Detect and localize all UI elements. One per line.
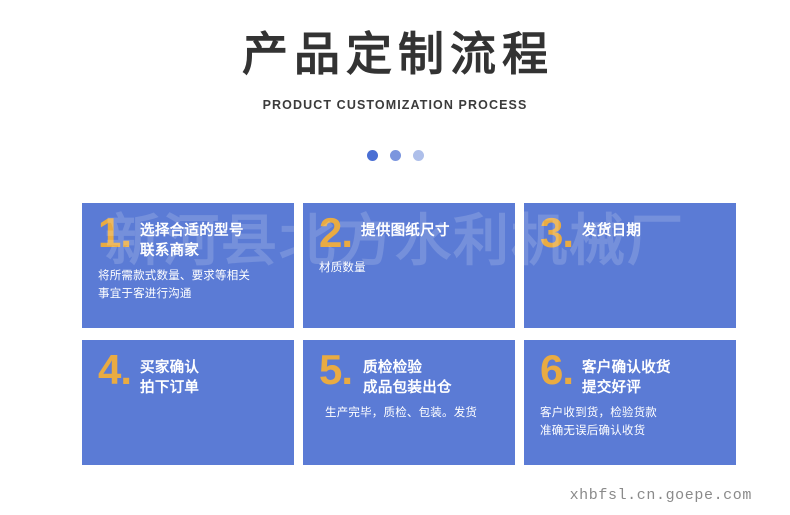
step-title: 买家确认 拍下订单 (140, 354, 199, 398)
banner-header: 产品定制流程 PRODUCT CUSTOMIZATION PROCESS (0, 28, 790, 112)
process-step-card-2: 2. 提供图纸尺寸 材质数量 (303, 203, 515, 328)
step-title: 客户确认收货 提交好评 (582, 354, 671, 398)
step-number: 3. (540, 214, 573, 253)
step-title-line-1: 质检检验 (363, 358, 452, 378)
process-step-card-1: 1. 选择合适的型号 联系商家 将所需款式数量、要求等相关 事宜于客进行沟通 (82, 203, 294, 328)
pager-dots (0, 150, 790, 161)
step-title-line-1: 买家确认 (140, 358, 199, 378)
step-title: 选择合适的型号 联系商家 (140, 217, 244, 261)
step-description: 客户收到货，检验货款 准确无误后确认收货 (524, 398, 736, 440)
step-title-line-2: 提交好评 (582, 378, 671, 398)
step-title-line-1: 客户确认收货 (582, 358, 671, 378)
step-number: 5. (319, 351, 352, 390)
step-description-line-1: 客户收到货，检验货款 (540, 403, 726, 421)
step-description-line-1: 将所需款式数量、要求等相关 (98, 266, 284, 284)
step-heading: 6. 客户确认收货 提交好评 (524, 340, 736, 398)
customization-process-banner: 产品定制流程 PRODUCT CUSTOMIZATION PROCESS 新河县… (0, 0, 790, 515)
step-number: 6. (540, 351, 573, 390)
page-title: 产品定制流程 (0, 28, 790, 81)
step-title-line-2: 联系商家 (140, 241, 244, 261)
step-description-line-2: 事宜于客进行沟通 (98, 284, 284, 302)
step-title-line-1: 发货日期 (582, 221, 641, 241)
process-step-card-6: 6. 客户确认收货 提交好评 客户收到货，检验货款 准确无误后确认收货 (524, 340, 736, 465)
step-description-line-2: 准确无误后确认收货 (540, 421, 726, 439)
step-title-line-2: 成品包装出仓 (363, 378, 452, 398)
step-description: 生产完毕，质检、包装。发货 (303, 398, 515, 421)
process-step-card-4: 4. 买家确认 拍下订单 (82, 340, 294, 465)
step-title-line-1: 选择合适的型号 (140, 221, 244, 241)
site-url-watermark: xhbfsl.cn.goepe.com (570, 487, 752, 504)
step-heading: 1. 选择合适的型号 联系商家 (82, 203, 294, 261)
page-subtitle: PRODUCT CUSTOMIZATION PROCESS (0, 98, 790, 112)
step-description: 材质数量 (303, 253, 515, 276)
step-heading: 3. 发货日期 (524, 203, 736, 253)
step-title: 质检检验 成品包装出仓 (363, 354, 452, 398)
pager-dot-2[interactable] (390, 150, 401, 161)
process-step-card-3: 3. 发货日期 (524, 203, 736, 328)
process-step-grid: 1. 选择合适的型号 联系商家 将所需款式数量、要求等相关 事宜于客进行沟通 2… (82, 203, 736, 465)
step-number: 4. (98, 351, 131, 390)
step-description-line-1: 材质数量 (319, 258, 505, 276)
step-description: 将所需款式数量、要求等相关 事宜于客进行沟通 (82, 261, 294, 303)
step-heading: 2. 提供图纸尺寸 (303, 203, 515, 253)
step-title-line-2: 拍下订单 (140, 378, 199, 398)
process-step-card-5: 5. 质检检验 成品包装出仓 生产完毕，质检、包装。发货 (303, 340, 515, 465)
step-title-line-1: 提供图纸尺寸 (361, 221, 450, 241)
step-heading: 4. 买家确认 拍下订单 (82, 340, 294, 398)
step-title: 提供图纸尺寸 (361, 217, 450, 241)
step-heading: 5. 质检检验 成品包装出仓 (303, 340, 515, 398)
step-title: 发货日期 (582, 217, 641, 241)
pager-dot-3[interactable] (413, 150, 424, 161)
step-description-line-1: 生产完毕，质检、包装。发货 (325, 403, 505, 421)
step-number: 1. (98, 214, 131, 253)
pager-dot-1[interactable] (367, 150, 378, 161)
step-number: 2. (319, 214, 352, 253)
